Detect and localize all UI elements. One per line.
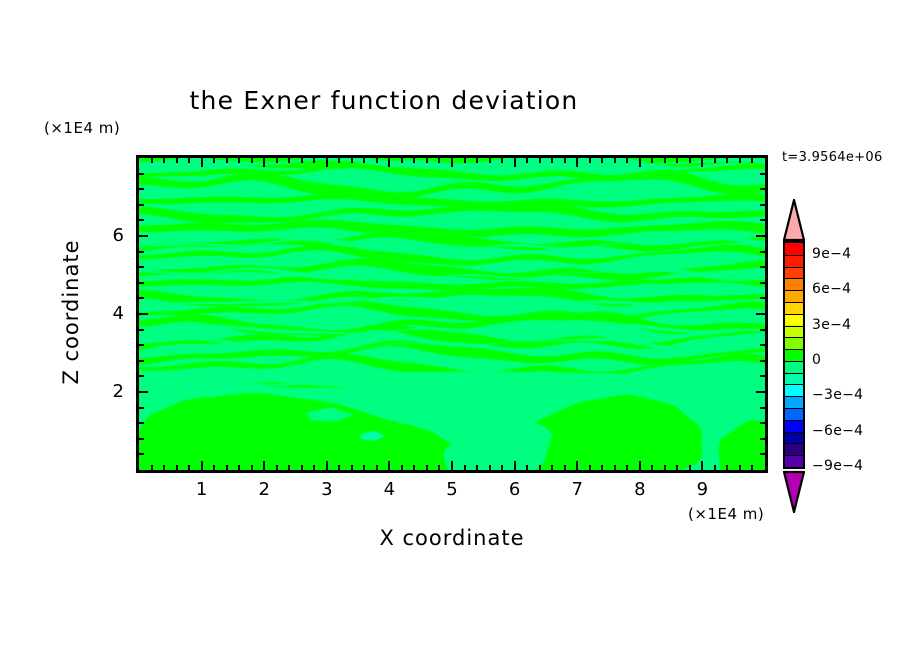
x-tick-label: 6 (495, 479, 535, 500)
colorbar-band (785, 349, 803, 361)
colorbar-band (785, 278, 803, 290)
x-tick-minor (751, 465, 753, 470)
x-tick-minor-top (589, 158, 591, 163)
x-tick-major (576, 461, 578, 470)
x-tick-minor (188, 465, 190, 470)
x-tick-minor-top (689, 158, 691, 163)
x-tick-minor (714, 465, 716, 470)
x-tick-minor (689, 465, 691, 470)
colorbar-band-separator (783, 455, 805, 456)
x-tick-minor (313, 465, 315, 470)
x-tick-minor (413, 465, 415, 470)
x-tick-major (326, 461, 328, 470)
colorbar-band-separator (783, 255, 805, 256)
x-tick-minor (438, 465, 440, 470)
colorbar-band-separator (783, 432, 805, 433)
y-tick-minor-right (760, 453, 765, 455)
x-tick-minor-top (501, 158, 503, 163)
x-tick-major-top (326, 158, 328, 167)
x-tick-minor-top (288, 158, 290, 163)
x-tick-minor (676, 465, 678, 470)
colorbar-band-separator (783, 290, 805, 291)
y-tick-minor-right (760, 266, 765, 268)
x-tick-minor (276, 465, 278, 470)
colorbar-band-separator (783, 302, 805, 303)
x-tick-label: 4 (369, 479, 409, 500)
x-tick-minor-top (476, 158, 478, 163)
x-tick-minor-top (489, 158, 491, 163)
x-tick-minor-top (313, 158, 315, 163)
x-tick-minor-top (739, 158, 741, 163)
x-tick-minor (476, 465, 478, 470)
x-tick-minor-top (276, 158, 278, 163)
x-tick-major-top (263, 158, 265, 167)
colorbar-tick-label: 0 (812, 352, 821, 368)
colorbar-band-separator (783, 337, 805, 338)
x-tick-minor (726, 465, 728, 470)
y-tick-minor-right (760, 188, 765, 190)
x-tick-major-top (201, 158, 203, 167)
colorbar (783, 241, 805, 469)
x-tick-minor-top (363, 158, 365, 163)
x-tick-minor (664, 465, 666, 470)
y-tick-minor (139, 188, 144, 190)
contour-field (139, 158, 765, 470)
x-tick-minor-top (188, 158, 190, 163)
x-tick-minor (426, 465, 428, 470)
x-tick-minor (589, 465, 591, 470)
colorbar-tick-label: 6e−4 (812, 281, 851, 297)
x-tick-minor-top (163, 158, 165, 163)
x-tick-major-top (388, 158, 390, 167)
x-tick-minor-top (351, 158, 353, 163)
colorbar-band (785, 384, 803, 396)
x-tick-minor (401, 465, 403, 470)
x-tick-minor (564, 465, 566, 470)
x-tick-minor-top (664, 158, 666, 163)
x-tick-label: 5 (432, 479, 472, 500)
y-axis-unit-label: (×1E4 m) (44, 119, 120, 137)
y-tick-major (139, 235, 148, 237)
colorbar-band-separator (783, 396, 805, 397)
y-tick-major-right (756, 313, 765, 315)
y-tick-minor (139, 360, 144, 362)
x-tick-minor-top (551, 158, 553, 163)
x-tick-minor-top (226, 158, 228, 163)
colorbar-band-separator (783, 384, 805, 385)
y-tick-minor (139, 422, 144, 424)
x-axis-title: X coordinate (136, 526, 768, 550)
y-tick-minor (139, 282, 144, 284)
colorbar-band-separator (783, 420, 805, 421)
x-tick-major (201, 461, 203, 470)
y-tick-minor-right (760, 204, 765, 206)
y-tick-minor-right (760, 297, 765, 299)
x-tick-major-top (514, 158, 516, 167)
x-tick-minor-top (726, 158, 728, 163)
y-tick-minor-right (760, 173, 765, 175)
y-tick-minor (139, 173, 144, 175)
x-tick-minor (351, 465, 353, 470)
y-tick-label: 6 (96, 225, 124, 246)
colorbar-band-separator (783, 267, 805, 268)
y-axis-title: Z coordinate (59, 222, 83, 402)
y-tick-minor-right (760, 375, 765, 377)
x-tick-minor (213, 465, 215, 470)
colorbar-band (785, 420, 803, 432)
x-tick-minor-top (338, 158, 340, 163)
x-tick-minor (226, 465, 228, 470)
x-tick-minor-top (413, 158, 415, 163)
x-tick-minor (363, 465, 365, 470)
y-tick-minor-right (760, 407, 765, 409)
y-tick-minor (139, 219, 144, 221)
x-tick-label: 8 (620, 479, 660, 500)
x-tick-minor (501, 465, 503, 470)
colorbar-band (785, 373, 803, 385)
x-tick-minor (464, 465, 466, 470)
x-tick-minor-top (176, 158, 178, 163)
colorbar-band-separator (783, 443, 805, 444)
x-tick-minor (626, 465, 628, 470)
colorbar-band (785, 432, 803, 444)
x-tick-minor (539, 465, 541, 470)
x-tick-minor-top (213, 158, 215, 163)
colorbar-tick-label: 3e−4 (812, 317, 851, 333)
x-tick-minor-top (676, 158, 678, 163)
x-tick-minor-top (464, 158, 466, 163)
x-tick-major (451, 461, 453, 470)
x-tick-minor-top (426, 158, 428, 163)
x-tick-minor-top (539, 158, 541, 163)
y-tick-minor-right (760, 344, 765, 346)
x-axis-unit-label: (×1E4 m) (688, 505, 764, 523)
y-tick-minor (139, 407, 144, 409)
x-tick-minor (288, 465, 290, 470)
x-tick-minor (151, 465, 153, 470)
x-tick-minor-top (301, 158, 303, 163)
x-tick-major (639, 461, 641, 470)
colorbar-tick-label: −3e−4 (812, 387, 863, 403)
x-tick-major-top (576, 158, 578, 167)
x-tick-minor-top (151, 158, 153, 163)
colorbar-band (785, 243, 803, 255)
x-tick-minor-top (614, 158, 616, 163)
x-tick-minor-top (714, 158, 716, 163)
colorbar-tick-label: −6e−4 (812, 423, 863, 439)
x-tick-minor-top (564, 158, 566, 163)
x-tick-minor-top (751, 158, 753, 163)
y-tick-minor (139, 297, 144, 299)
x-tick-major-top (451, 158, 453, 167)
colorbar-tick-label: −9e−4 (812, 458, 863, 474)
x-tick-label: 2 (244, 479, 284, 500)
y-tick-minor (139, 251, 144, 253)
y-tick-minor (139, 204, 144, 206)
x-tick-label: 9 (682, 479, 722, 500)
colorbar-band (785, 337, 803, 349)
colorbar-band-separator (783, 278, 805, 279)
y-tick-minor-right (760, 360, 765, 362)
x-tick-minor (551, 465, 553, 470)
y-tick-major (139, 313, 148, 315)
colorbar-band (785, 455, 803, 467)
y-tick-minor (139, 438, 144, 440)
y-tick-label: 2 (96, 381, 124, 402)
colorbar-band (785, 255, 803, 267)
y-tick-minor-right (760, 219, 765, 221)
page-title: the Exner function deviation (0, 86, 768, 115)
y-tick-minor-right (760, 329, 765, 331)
contour-plot-area (136, 155, 768, 473)
colorbar-band-separator (783, 361, 805, 362)
timestamp-label: t=3.9564e+06 (782, 150, 883, 165)
y-tick-minor-right (760, 438, 765, 440)
colorbar-band-separator (783, 408, 805, 409)
x-tick-minor-top (251, 158, 253, 163)
y-tick-minor (139, 329, 144, 331)
x-tick-minor (489, 465, 491, 470)
colorbar-band-separator (783, 373, 805, 374)
y-tick-minor (139, 266, 144, 268)
colorbar-band (785, 361, 803, 373)
x-tick-minor-top (401, 158, 403, 163)
x-tick-major (263, 461, 265, 470)
x-tick-minor (163, 465, 165, 470)
y-tick-minor-right (760, 251, 765, 253)
y-tick-minor (139, 375, 144, 377)
colorbar-over-arrow (783, 199, 805, 241)
x-tick-major (388, 461, 390, 470)
colorbar-band (785, 267, 803, 279)
x-tick-label: 3 (307, 479, 347, 500)
colorbar-band-separator (783, 326, 805, 327)
colorbar-band (785, 408, 803, 420)
x-tick-minor-top (376, 158, 378, 163)
colorbar-band (785, 290, 803, 302)
x-tick-minor (614, 465, 616, 470)
x-tick-major-top (639, 158, 641, 167)
x-tick-minor (301, 465, 303, 470)
colorbar-band (785, 443, 803, 455)
colorbar-band (785, 314, 803, 326)
colorbar-band (785, 325, 803, 337)
colorbar-band (785, 396, 803, 408)
y-tick-minor (139, 344, 144, 346)
y-tick-major-right (756, 391, 765, 393)
x-tick-minor-top (438, 158, 440, 163)
x-tick-minor (526, 465, 528, 470)
x-tick-minor (176, 465, 178, 470)
y-tick-major (139, 391, 148, 393)
colorbar-band (785, 302, 803, 314)
x-tick-minor (376, 465, 378, 470)
y-tick-label: 4 (96, 303, 124, 324)
x-tick-major (701, 461, 703, 470)
y-tick-minor-right (760, 282, 765, 284)
x-tick-minor (251, 465, 253, 470)
y-tick-minor (139, 453, 144, 455)
x-tick-minor-top (601, 158, 603, 163)
x-tick-major-top (701, 158, 703, 167)
colorbar-band-separator (783, 314, 805, 315)
x-tick-minor-top (626, 158, 628, 163)
x-tick-minor (338, 465, 340, 470)
y-tick-major-right (756, 235, 765, 237)
x-tick-label: 1 (182, 479, 222, 500)
x-tick-minor (601, 465, 603, 470)
x-tick-minor-top (651, 158, 653, 163)
y-tick-minor-right (760, 422, 765, 424)
x-tick-minor (238, 465, 240, 470)
x-tick-minor (651, 465, 653, 470)
x-tick-major (514, 461, 516, 470)
colorbar-tick-label: 9e−4 (812, 246, 851, 262)
x-tick-label: 7 (557, 479, 597, 500)
x-tick-minor-top (526, 158, 528, 163)
x-tick-minor (739, 465, 741, 470)
x-tick-minor-top (238, 158, 240, 163)
colorbar-under-arrow (783, 469, 805, 513)
colorbar-band-separator (783, 349, 805, 350)
